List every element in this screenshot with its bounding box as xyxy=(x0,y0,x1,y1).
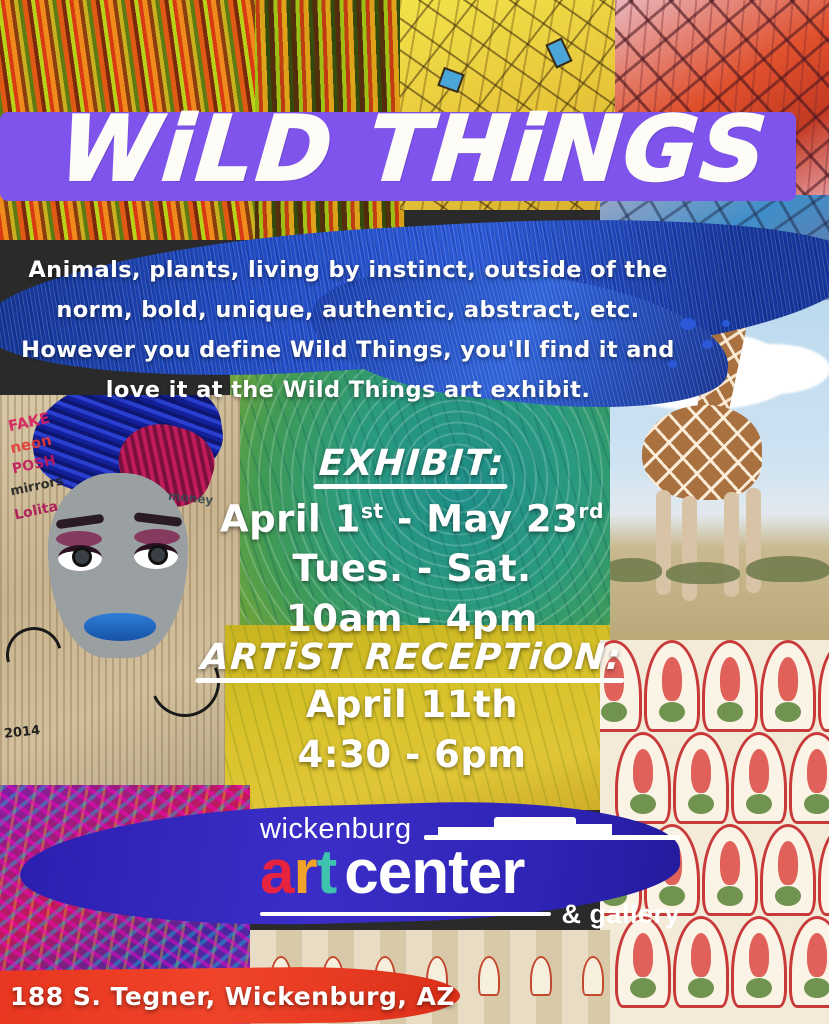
paint-splatter xyxy=(722,320,730,327)
logo-letter-a: a xyxy=(260,841,293,905)
description-line: norm, bold, unique, authentic, abstract,… xyxy=(8,290,688,330)
logo-letter-r: r xyxy=(293,841,316,905)
ordinal-suffix-st: st xyxy=(361,499,384,523)
paint-splatter xyxy=(702,340,713,349)
bush xyxy=(666,562,740,584)
bush xyxy=(746,556,829,582)
poster-root: FAKE neon POSH mirrors Lolita money 2014 xyxy=(0,0,829,1024)
exhibit-days: Tues. - Sat. xyxy=(172,544,652,594)
heading-underline xyxy=(313,484,507,489)
building-block-center xyxy=(494,817,576,836)
portrait-lips xyxy=(84,613,156,641)
ordinal-suffix-rd: rd xyxy=(578,499,604,523)
reception-hours: 4:30 - 6pm xyxy=(172,730,652,780)
paisley-motif xyxy=(731,916,787,1008)
ornament-motif xyxy=(582,956,604,996)
graffiti-tag: mirrors xyxy=(9,474,65,500)
portrait-swirl xyxy=(0,617,72,693)
logo-letter-t: t xyxy=(317,841,337,905)
exhibit-date-range: April 1st - May 23rd xyxy=(172,486,652,544)
paisley-motif xyxy=(818,640,829,732)
paisley-motif xyxy=(644,640,700,732)
ornament-motif xyxy=(478,956,500,996)
exhibit-heading: EXHIBIT: xyxy=(318,442,507,486)
building-icon xyxy=(424,816,680,842)
logo-gallery-text: & gallery xyxy=(561,899,680,929)
paisley-motif xyxy=(702,824,758,916)
logo-band: wickenburg a r t center & gallery xyxy=(20,795,700,930)
logo-lockup: wickenburg a r t center & gallery xyxy=(260,813,680,929)
paisley-motif xyxy=(731,732,787,824)
address-text: 188 S. Tegner, Wickenburg, AZ xyxy=(10,982,480,1012)
artist-signature: 2014 xyxy=(3,723,41,742)
paisley-motif xyxy=(760,824,816,916)
description-line: Animals, plants, living by instinct, out… xyxy=(8,250,688,290)
description-line: However you define Wild Things, you'll f… xyxy=(8,330,688,370)
paisley-motif xyxy=(789,916,829,1008)
page-title: WiLD THiNGS xyxy=(0,100,829,200)
heading-underline xyxy=(196,678,625,683)
reception-heading-label: ARTiST RECEPTiON: xyxy=(200,637,624,678)
exhibit-date-start: April 1 xyxy=(220,497,361,540)
graffiti-shard xyxy=(437,67,465,93)
paisley-motif xyxy=(760,640,816,732)
paisley-motif xyxy=(818,824,829,916)
paisley-motif xyxy=(702,640,758,732)
reception-heading: ARTiST RECEPTiON: xyxy=(200,636,624,680)
reception-date: April 11th xyxy=(172,680,652,730)
logo-center-text: center xyxy=(344,841,524,905)
exhibit-heading-label: EXHIBIT: xyxy=(318,443,507,484)
building-baseline xyxy=(424,835,680,840)
portrait-pupil xyxy=(148,545,168,565)
exhibit-section: EXHIBIT: April 1st - May 23rd Tues. - Sa… xyxy=(172,442,652,644)
paisley-motif xyxy=(789,732,829,824)
logo-rule xyxy=(260,912,551,916)
exhibit-date-sep: - May 23 xyxy=(384,497,579,540)
portrait-pupil xyxy=(72,547,92,567)
description-text: Animals, plants, living by instinct, out… xyxy=(8,250,688,410)
giraffe-leg xyxy=(682,496,697,601)
graffiti-shard xyxy=(545,37,572,68)
logo-main-row: a r t center xyxy=(260,841,680,905)
ornament-motif xyxy=(530,956,552,996)
description-line: love it at the Wild Things art exhibit. xyxy=(8,370,688,410)
reception-section: ARTiST RECEPTiON: April 11th 4:30 - 6pm xyxy=(172,636,652,780)
